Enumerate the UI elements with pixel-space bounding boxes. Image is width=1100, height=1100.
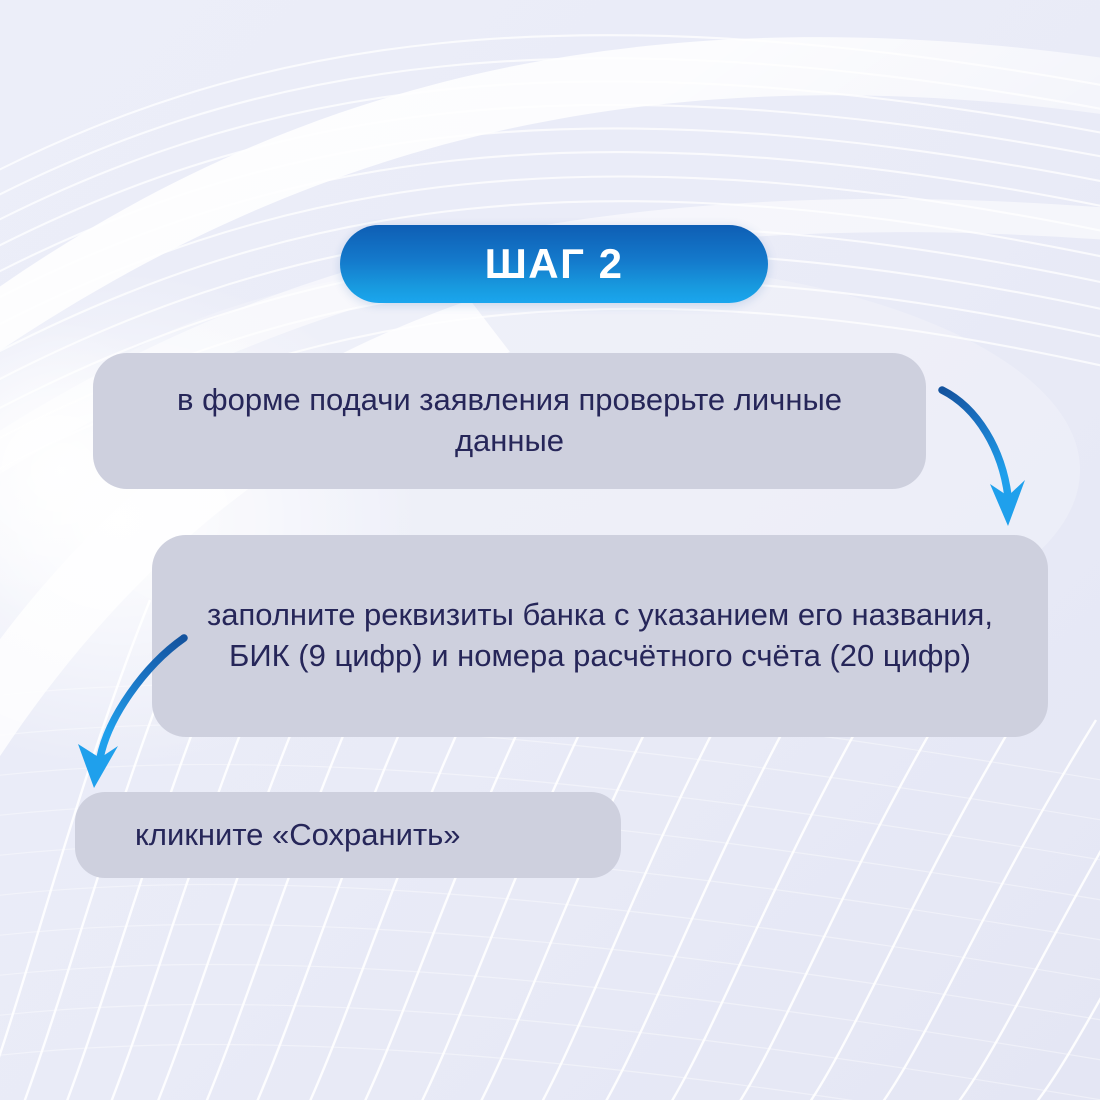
instruction-card-text: в форме подачи заявления проверьте личны… (121, 380, 898, 462)
instruction-card-check-personal-data: в форме подачи заявления проверьте личны… (93, 353, 926, 489)
step-badge: ШАГ 2 (340, 225, 768, 303)
step-badge-label: ШАГ 2 (485, 243, 624, 285)
instruction-card-fill-bank-details: заполните реквизиты банка с указанием ег… (152, 535, 1048, 737)
slide-canvas: ШАГ 2 в форме подачи заявления проверьте… (0, 0, 1100, 1100)
instruction-card-click-save: кликните «Сохранить» (75, 792, 621, 878)
instruction-card-text: кликните «Сохранить» (135, 815, 561, 856)
instruction-card-text: заполните реквизиты банка с указанием ег… (182, 595, 1018, 677)
arrow-step1-to-step2-icon (930, 368, 1040, 548)
